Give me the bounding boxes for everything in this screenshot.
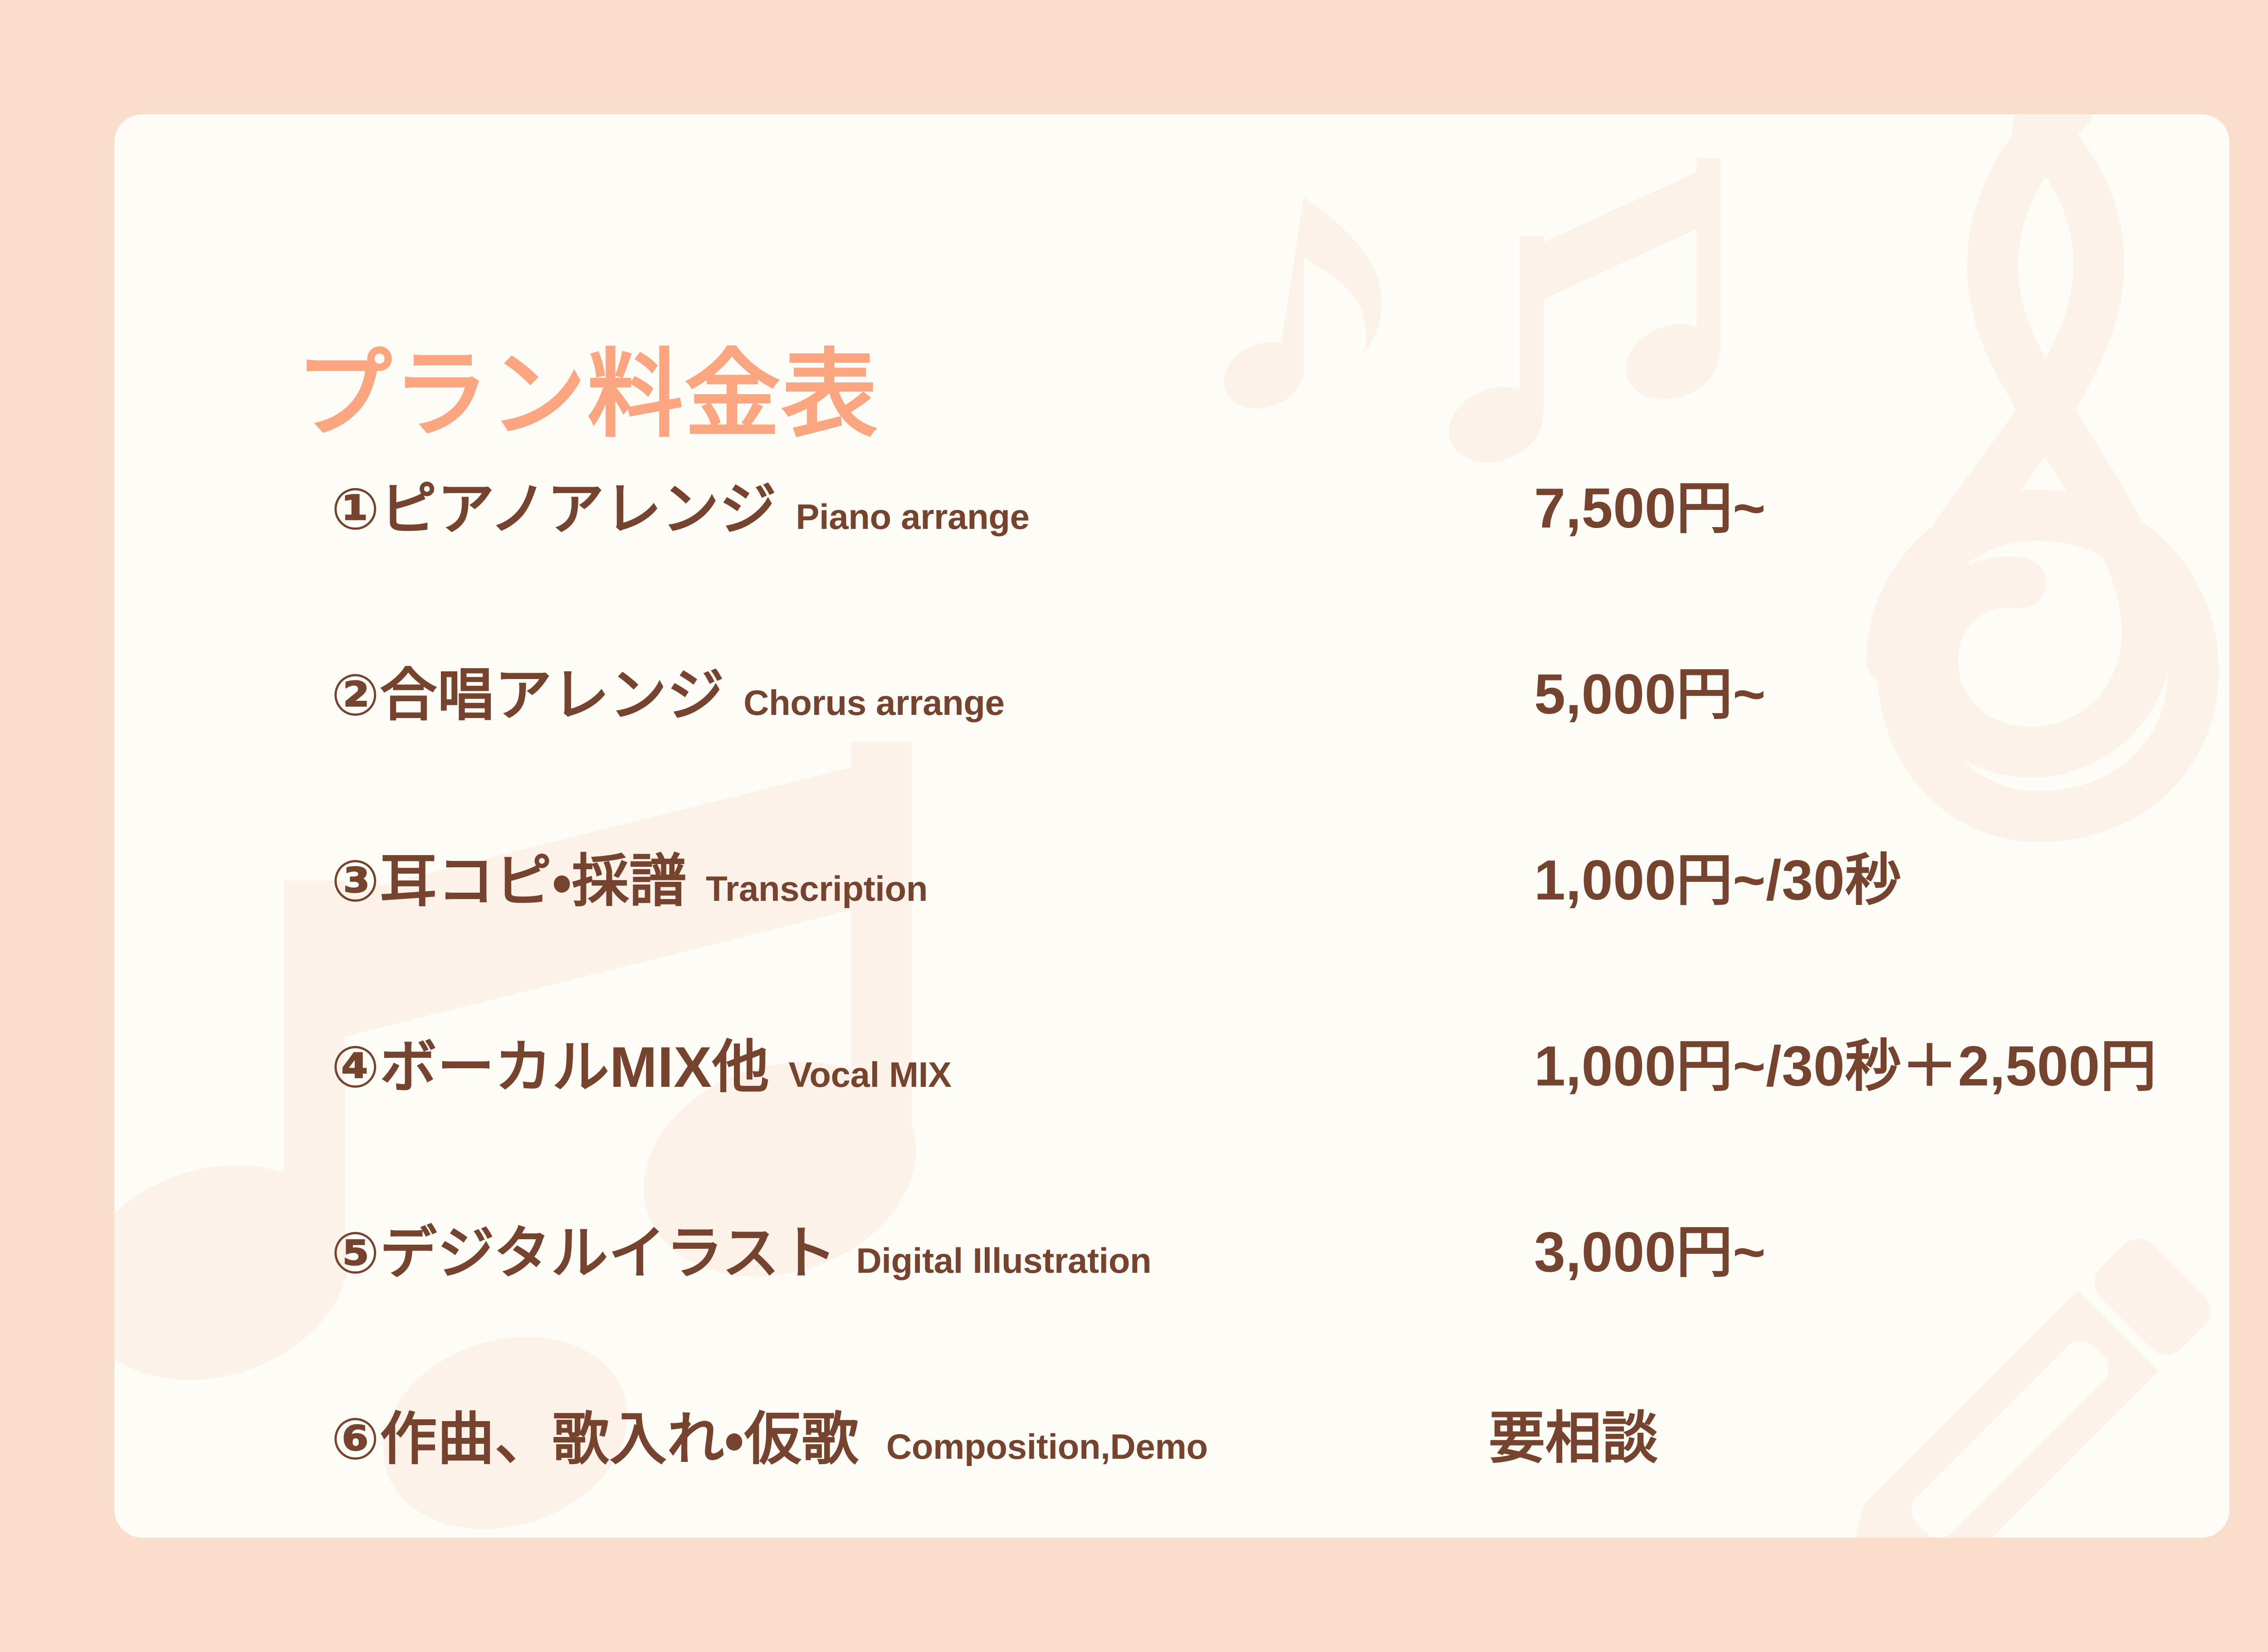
plan-name-jp: ③耳コピ・採譜 <box>331 849 687 913</box>
beamed-notes-icon <box>1439 137 1756 482</box>
plan-price: 7,500円~ <box>1534 477 1766 540</box>
plan-price: 3,000円~ <box>1534 1221 1766 1284</box>
plan-price: 1,000円~/30秒 <box>1534 849 1901 912</box>
plan-name-cell: ⑥作曲、歌入れ・仮歌 Composition,Demo <box>331 1407 1208 1471</box>
pricing-poster: プラン料金表 ①ピアノアレンジ Piano arrange 7,500円~ ②合… <box>0 0 2268 1652</box>
plan-name-en: Chorus arrange <box>743 683 1004 723</box>
table-row: ⑤デジタルイラスト Digital Illustration 3,000円~ <box>114 1221 2229 1407</box>
plan-name-en: Transcription <box>706 869 928 909</box>
plan-name-jp: ⑥作曲、歌入れ・仮歌 <box>331 1407 859 1471</box>
plan-name-jp: ②合唱アレンジ <box>331 663 724 727</box>
plan-name-jp: ⑤デジタルイラスト <box>331 1221 837 1285</box>
plan-price: 1,000円~/30秒＋2,500円 <box>1534 1035 2157 1098</box>
plan-name-en: Vocal MIX <box>788 1055 951 1095</box>
plan-name-en: Composition,Demo <box>886 1427 1208 1466</box>
table-row: ②合唱アレンジ Chorus arrange 5,000円~ <box>114 663 2229 849</box>
plan-name-jp: ④ボーカルMIX他 <box>331 1035 769 1099</box>
plan-name-cell: ④ボーカルMIX他 Vocal MIX <box>331 1035 952 1099</box>
plan-price: 要相談 <box>1489 1407 1658 1470</box>
plan-price: 5,000円~ <box>1534 663 1766 726</box>
eighth-note-icon <box>1221 185 1412 439</box>
table-row: ③耳コピ・採譜 Transcription 1,000円~/30秒 <box>114 849 2229 1035</box>
plan-name-en: Piano arrange <box>796 497 1029 537</box>
page-title: プラン料金表 <box>296 347 879 443</box>
table-row: ⑥作曲、歌入れ・仮歌 Composition,Demo 要相談 <box>114 1407 2229 1538</box>
pricing-card: プラン料金表 ①ピアノアレンジ Piano arrange 7,500円~ ②合… <box>114 114 2229 1538</box>
plan-name-cell: ⑤デジタルイラスト Digital Illustration <box>331 1221 1151 1285</box>
plan-name-jp: ①ピアノアレンジ <box>331 477 777 541</box>
plan-name-cell: ①ピアノアレンジ Piano arrange <box>331 477 1030 541</box>
plan-name-cell: ③耳コピ・採譜 Transcription <box>331 849 928 913</box>
plan-name-en: Digital Illustration <box>856 1241 1151 1281</box>
table-row: ①ピアノアレンジ Piano arrange 7,500円~ <box>114 477 2229 663</box>
table-row: ④ボーカルMIX他 Vocal MIX 1,000円~/30秒＋2,500円 <box>114 1035 2229 1221</box>
plan-price-table: ①ピアノアレンジ Piano arrange 7,500円~ ②合唱アレンジ C… <box>114 477 2229 1538</box>
plan-name-cell: ②合唱アレンジ Chorus arrange <box>331 663 1004 727</box>
